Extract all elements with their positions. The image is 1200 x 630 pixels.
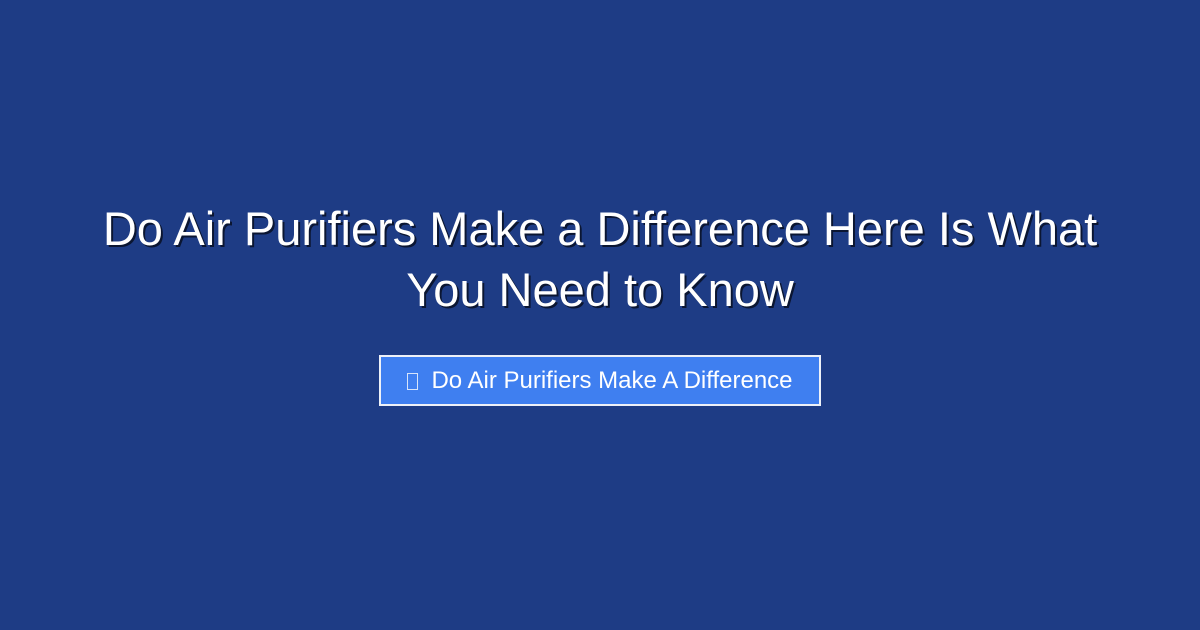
cta-button-label: Do Air Purifiers Make A Difference (431, 369, 792, 393)
cta-button[interactable]: Do Air Purifiers Make A Difference (379, 355, 820, 406)
page-title: Do Air Purifiers Make a Difference Here … (70, 198, 1130, 320)
cta-container: Do Air Purifiers Make A Difference (0, 355, 1200, 406)
social-share-card: Do Air Purifiers Make a Difference Here … (0, 0, 1200, 630)
missing-glyph-box-icon (407, 373, 418, 390)
